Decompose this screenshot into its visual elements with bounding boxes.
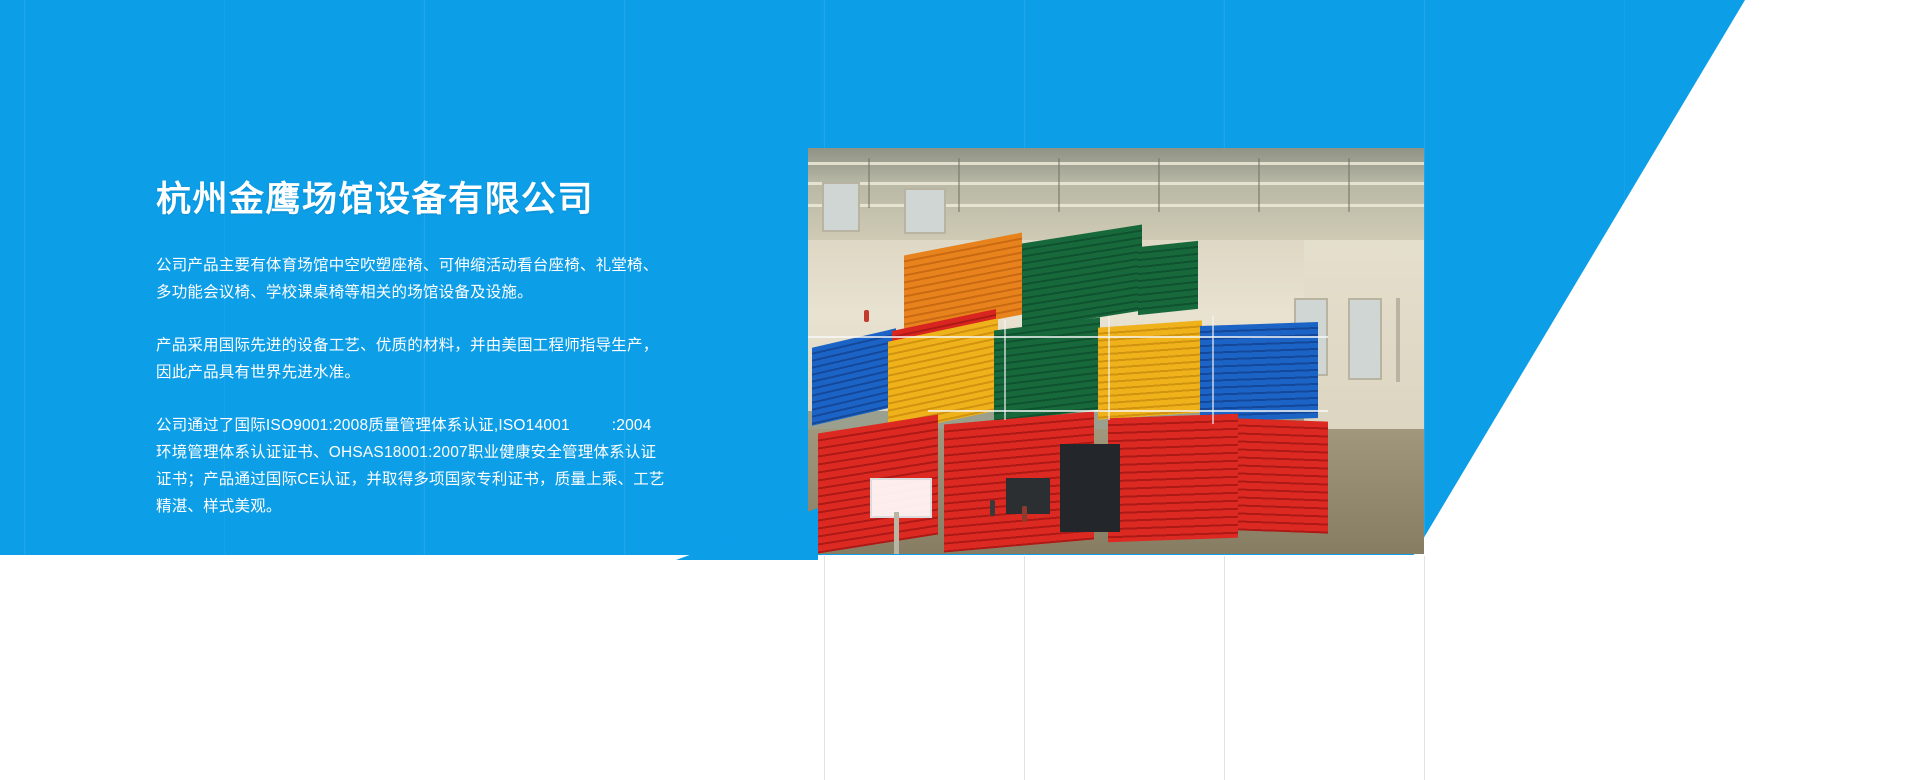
gymnasium-photo bbox=[808, 148, 1424, 554]
paragraph-technology: 产品采用国际先进的设备工艺、优质的材料，并由美国工程师指导生产，因此产品具有世界… bbox=[156, 332, 666, 386]
photo-equipment-box bbox=[1006, 478, 1050, 514]
seating-block-green-upper-2 bbox=[1138, 241, 1198, 315]
paragraph-products: 公司产品主要有体育场馆中空吹塑座椅、可伸缩活动看台座椅、礼堂椅、多功能会议椅、学… bbox=[156, 252, 666, 306]
photo-canvas bbox=[808, 148, 1424, 554]
seating-block-red-d bbox=[1238, 418, 1328, 533]
bottom-white-band bbox=[0, 555, 1920, 780]
page-title: 杭州金鹰场馆设备有限公司 bbox=[156, 178, 666, 222]
certification-line-a: 公司通过了国际ISO9001:2008质量管理体系认证,ISO14001 bbox=[156, 417, 570, 434]
seating-block-red-c bbox=[1108, 414, 1238, 543]
paragraph-certifications: 公司通过了国际ISO9001:2008质量管理体系认证,ISO14001:200… bbox=[156, 412, 666, 520]
photo-ceiling bbox=[808, 148, 1424, 240]
basketball-hoop bbox=[860, 478, 934, 540]
hero-banner: 杭州金鹰场馆设备有限公司 公司产品主要有体育场馆中空吹塑座椅、可伸缩活动看台座椅… bbox=[0, 0, 1920, 780]
photo-dark-panel bbox=[1060, 444, 1120, 532]
seating-block-green-middle bbox=[994, 317, 1100, 422]
company-copy-block: 杭州金鹰场馆设备有限公司 公司产品主要有体育场馆中空吹塑座椅、可伸缩活动看台座椅… bbox=[156, 178, 666, 520]
